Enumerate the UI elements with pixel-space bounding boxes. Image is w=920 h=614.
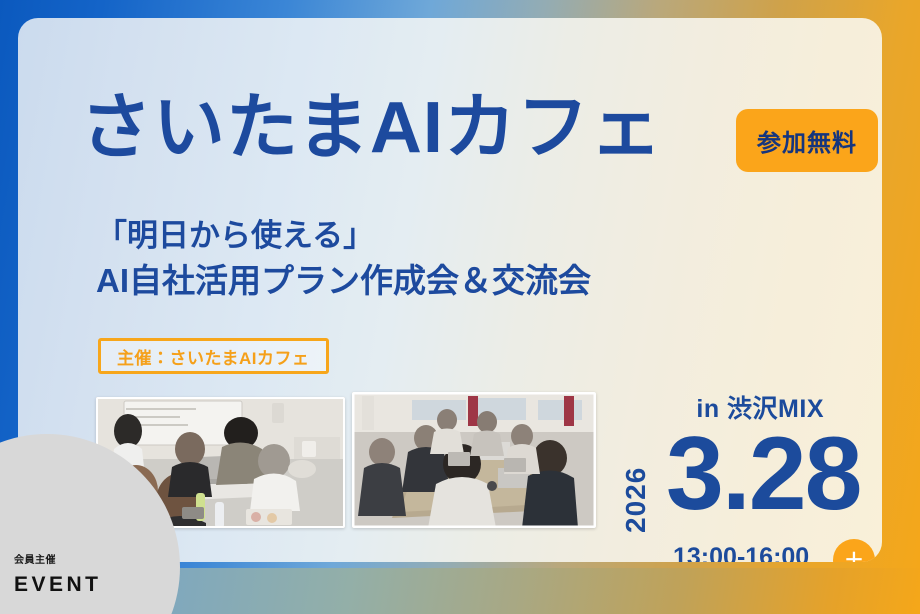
corner-title: EVENT — [14, 573, 102, 597]
free-admission-badge: 参加無料 — [736, 109, 878, 172]
day-of-week-label: 土 — [844, 547, 863, 563]
subtitle-line-2: AI自社活用プラン作成会＆交流会 — [96, 258, 591, 305]
event-date: 3.28 — [666, 422, 860, 526]
event-flyer: さいたまAIカフェ 参加無料 「明日から使える」 AI自社活用プラン作成会＆交流… — [0, 0, 920, 614]
organizer-badge-label: 主催：さいたまAIカフェ — [117, 344, 310, 369]
organizer-badge: 主催：さいたまAIカフェ — [98, 338, 329, 374]
event-year: 2026 — [616, 437, 652, 533]
event-year-text: 2026 — [620, 467, 652, 533]
workshop-photo-2 — [352, 392, 596, 528]
subtitle: 「明日から使える」 AI自社活用プラン作成会＆交流会 — [96, 214, 591, 305]
subtitle-line-1: 「明日から使える」 — [96, 214, 591, 258]
page-title: さいたまAIカフェ — [80, 92, 663, 164]
free-admission-badge-label: 参加無料 — [757, 123, 857, 158]
corner-subtitle: 会員主催 — [14, 551, 56, 566]
day-of-week-badge: 土 — [833, 539, 875, 562]
event-time: 13:00-16:00 — [673, 543, 809, 562]
